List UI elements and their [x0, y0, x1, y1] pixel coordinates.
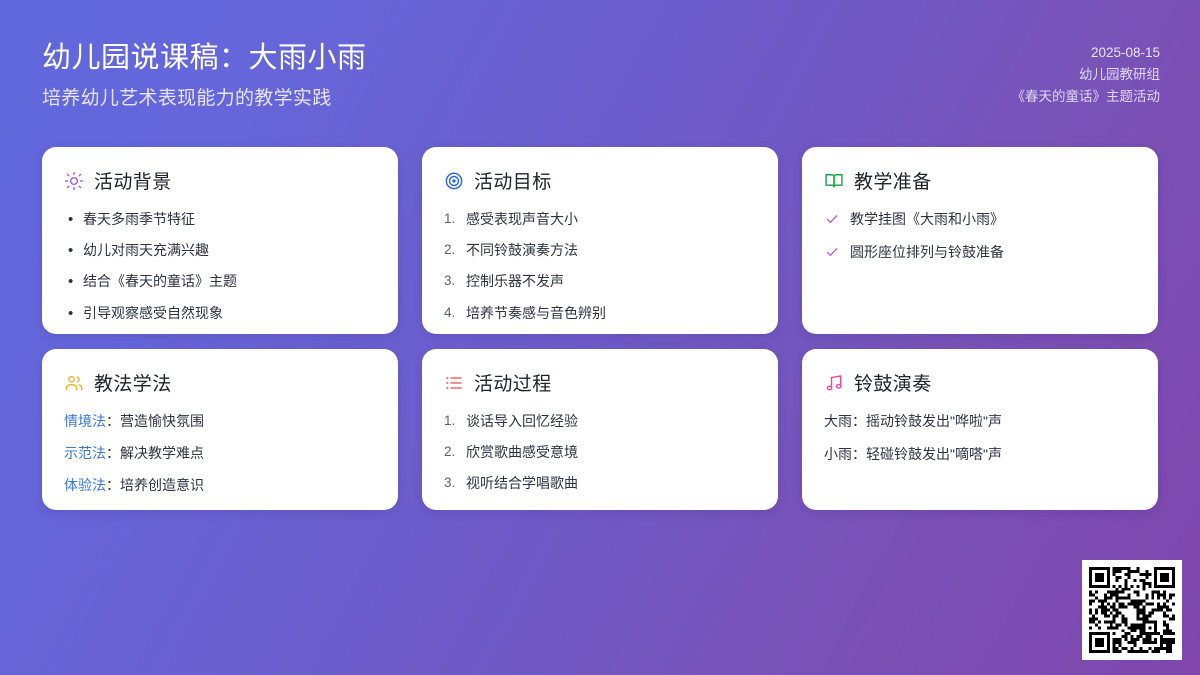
card-process[interactable]: 活动过程谈话导入回忆经验欣赏歌曲感受意境视听结合学唱歌曲	[422, 349, 778, 510]
music-note-icon	[824, 373, 844, 393]
list-item: 情境法：营造愉快氛围	[64, 411, 376, 433]
list-item: 春天多雨季节特征	[64, 209, 376, 231]
card-preparation[interactable]: 教学准备教学挂图《大雨和小雨》圆形座位排列与铃鼓准备	[802, 147, 1158, 334]
target-icon	[444, 171, 464, 191]
card-title: 活动背景	[94, 167, 172, 194]
list-item: 体验法：培养创造意识	[64, 475, 376, 497]
card-objectives[interactable]: 活动目标感受表现声音大小不同铃鼓演奏方法控制乐器不发声培养节奏感与音色辨别	[422, 147, 778, 334]
list-item: 不同铃鼓演奏方法	[444, 240, 756, 262]
qr-code-image	[1089, 567, 1175, 653]
card-list: 感受表现声音大小不同铃鼓演奏方法控制乐器不发声培养节奏感与音色辨别	[444, 209, 756, 324]
list-item: 幼儿对雨天充满兴趣	[64, 240, 376, 262]
header-meta: 2025-08-15 幼儿园教研组 《春天的童话》主题活动	[1012, 30, 1161, 108]
list-item: 欣赏歌曲感受意境	[444, 442, 756, 464]
slide-header: 幼儿园说课稿：大雨小雨 培养幼儿艺术表现能力的教学实践 2025-08-15 幼…	[0, 0, 1200, 136]
list-item: 教学挂图《大雨和小雨》	[824, 209, 1136, 231]
card-list: 情境法：营造愉快氛围示范法：解决教学难点体验法：培养创造意识	[64, 411, 376, 497]
card-list: 谈话导入回忆经验欣赏歌曲感受意境视听结合学唱歌曲	[444, 411, 756, 495]
meta-date: 2025-08-15	[1012, 42, 1161, 64]
sun-icon	[64, 171, 84, 191]
method-separator: ：	[106, 413, 120, 429]
list-item: 小雨：轻碰铃鼓发出"嘀嗒"声	[824, 444, 1136, 466]
card-header: 铃鼓演奏	[824, 369, 1136, 396]
card-header: 活动背景	[64, 167, 376, 194]
card-title: 铃鼓演奏	[854, 369, 932, 396]
page-subtitle: 培养幼儿艺术表现能力的教学实践	[42, 83, 367, 110]
meta-org: 幼儿园教研组	[1012, 64, 1161, 86]
card-list: 教学挂图《大雨和小雨》圆形座位排列与铃鼓准备	[824, 209, 1136, 263]
users-icon	[64, 373, 84, 393]
page-title: 幼儿园说课稿：大雨小雨	[42, 40, 367, 76]
card-title: 教学准备	[854, 167, 932, 194]
method-separator: ：	[106, 445, 120, 461]
card-title: 活动过程	[474, 369, 552, 396]
list-item: 视听结合学唱歌曲	[444, 473, 756, 495]
check-icon	[825, 211, 839, 225]
list-item: 结合《春天的童话》主题	[64, 271, 376, 293]
meta-theme: 《春天的童话》主题活动	[1012, 86, 1161, 108]
card-title: 活动目标	[474, 167, 552, 194]
method-description: 培养创造意识	[120, 477, 204, 493]
list-item: 谈话导入回忆经验	[444, 411, 756, 433]
list-item: 引导观察感受自然现象	[64, 303, 376, 325]
book-icon	[824, 171, 844, 191]
list-item: 大雨：摇动铃鼓发出"哗啦"声	[824, 411, 1136, 433]
card-header: 活动过程	[444, 369, 756, 396]
header-left: 幼儿园说课稿：大雨小雨 培养幼儿艺术表现能力的教学实践	[42, 30, 367, 110]
card-list: 大雨：摇动铃鼓发出"哗啦"声小雨：轻碰铃鼓发出"嘀嗒"声	[824, 411, 1136, 465]
card-header: 活动目标	[444, 167, 756, 194]
method-description: 营造愉快氛围	[120, 413, 204, 429]
list-icon	[444, 373, 464, 393]
list-item: 培养节奏感与音色辨别	[444, 303, 756, 325]
card-header: 教法学法	[64, 369, 376, 396]
card-title: 教法学法	[94, 369, 172, 396]
method-separator: ：	[106, 477, 120, 493]
card-tambourine[interactable]: 铃鼓演奏大雨：摇动铃鼓发出"哗啦"声小雨：轻碰铃鼓发出"嘀嗒"声	[802, 349, 1158, 510]
list-item: 圆形座位排列与铃鼓准备	[824, 242, 1136, 264]
qr-code[interactable]	[1082, 560, 1182, 660]
check-icon	[825, 244, 839, 258]
list-item-label: 圆形座位排列与铃鼓准备	[850, 244, 1004, 260]
method-description: 解决教学难点	[120, 445, 204, 461]
method-label: 示范法	[64, 445, 106, 461]
list-item: 控制乐器不发声	[444, 271, 756, 293]
list-item-label: 教学挂图《大雨和小雨》	[850, 211, 1004, 227]
card-header: 教学准备	[824, 167, 1136, 194]
list-item: 示范法：解决教学难点	[64, 443, 376, 465]
method-label: 情境法	[64, 413, 106, 429]
list-item: 感受表现声音大小	[444, 209, 756, 231]
card-list: 春天多雨季节特征幼儿对雨天充满兴趣结合《春天的童话》主题引导观察感受自然现象	[64, 209, 376, 324]
card-background[interactable]: 活动背景春天多雨季节特征幼儿对雨天充满兴趣结合《春天的童话》主题引导观察感受自然…	[42, 147, 398, 334]
card-grid: 活动背景春天多雨季节特征幼儿对雨天充满兴趣结合《春天的童话》主题引导观察感受自然…	[42, 147, 1158, 510]
card-methods[interactable]: 教法学法情境法：营造愉快氛围示范法：解决教学难点体验法：培养创造意识	[42, 349, 398, 510]
method-label: 体验法	[64, 477, 106, 493]
